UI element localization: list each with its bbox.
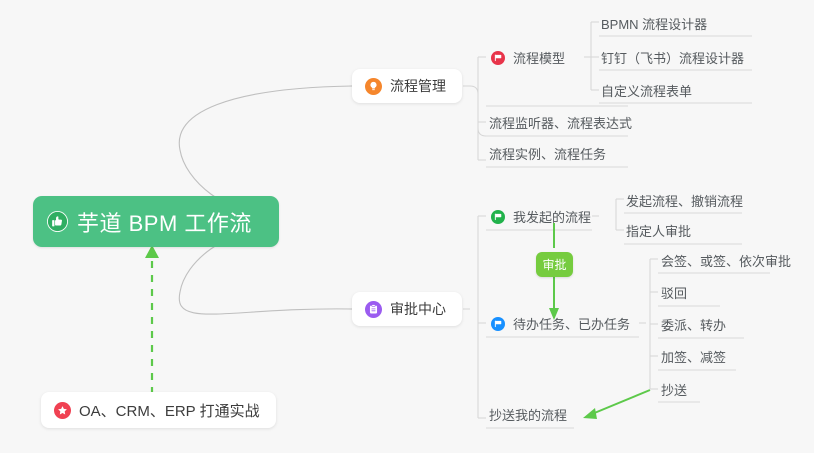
node-label: 驳回 [661,283,687,302]
callout-node[interactable]: OA、CRM、ERP 打通实战 [41,392,276,428]
node-cc[interactable]: 抄送 [660,376,687,403]
lightbulb-icon [365,78,382,95]
callout-label: OA、CRM、ERP 打通实战 [79,400,260,421]
node-label: BPMN 流程设计器 [601,14,707,33]
integration-arrow [145,245,159,394]
node-label: 委派、转办 [661,315,726,334]
node-label: 抄送我的流程 [489,405,567,424]
node-process-model[interactable]: 流程模型 [488,44,565,71]
node-label: 加签、减签 [661,347,726,366]
approval-tag-label: 审批 [542,256,566,273]
node-my-initiated-process[interactable]: 我发起的流程 [488,203,591,230]
node-label: 钉钉（飞书）流程设计器 [601,48,744,67]
node-assignee-approval[interactable]: 指定人审批 [625,217,691,244]
mindmap-canvas: 芋道 BPM 工作流 OA、CRM、ERP 打通实战 流程管理 [0,0,814,453]
flag-icon [489,208,506,225]
node-label: 流程实例、流程任务 [489,144,606,163]
node-add-remove-sign[interactable]: 加签、减签 [660,343,726,370]
root-node[interactable]: 芋道 BPM 工作流 [33,196,279,247]
node-reject[interactable]: 驳回 [660,279,687,306]
branch-label: 流程管理 [390,76,446,96]
star-icon [54,402,71,419]
node-label: 指定人审批 [626,221,691,240]
node-start-cancel-process[interactable]: 发起流程、撤销流程 [625,187,743,214]
node-todo-done-tasks[interactable]: 待办任务、已办任务 [488,310,630,337]
approval-tag: 审批 [536,252,573,277]
flag-icon [489,315,506,332]
node-label: 流程模型 [513,48,565,67]
node-listener-expression[interactable]: 流程监听器、流程表达式 [488,109,632,136]
node-instance-task[interactable]: 流程实例、流程任务 [488,140,606,167]
thumbs-up-icon [47,211,68,232]
node-label: 流程监听器、流程表达式 [489,113,632,132]
node-countersign[interactable]: 会签、或签、依次审批 [660,247,791,274]
node-custom-form[interactable]: 自定义流程表单 [600,77,692,104]
cc-flow-arrow [583,390,650,419]
node-label: 自定义流程表单 [601,81,692,100]
clipboard-icon [365,301,382,318]
node-label: 待办任务、已办任务 [513,314,630,333]
node-bpmn-designer[interactable]: BPMN 流程设计器 [600,10,707,37]
branch-node-process-management[interactable]: 流程管理 [352,69,462,103]
node-delegate-transfer[interactable]: 委派、转办 [660,311,726,338]
root-node-label: 芋道 BPM 工作流 [77,206,252,238]
node-label: 发起流程、撤销流程 [626,191,743,210]
node-label: 抄送 [661,380,687,399]
node-label: 我发起的流程 [513,207,591,226]
node-dingtalk-designer[interactable]: 钉钉（飞书）流程设计器 [600,44,744,71]
node-label: 会签、或签、依次审批 [661,251,791,270]
node-cc-to-me[interactable]: 抄送我的流程 [488,401,567,428]
branch-node-approval-center[interactable]: 审批中心 [352,292,462,326]
flag-icon [489,49,506,66]
branch-label: 审批中心 [390,299,446,319]
